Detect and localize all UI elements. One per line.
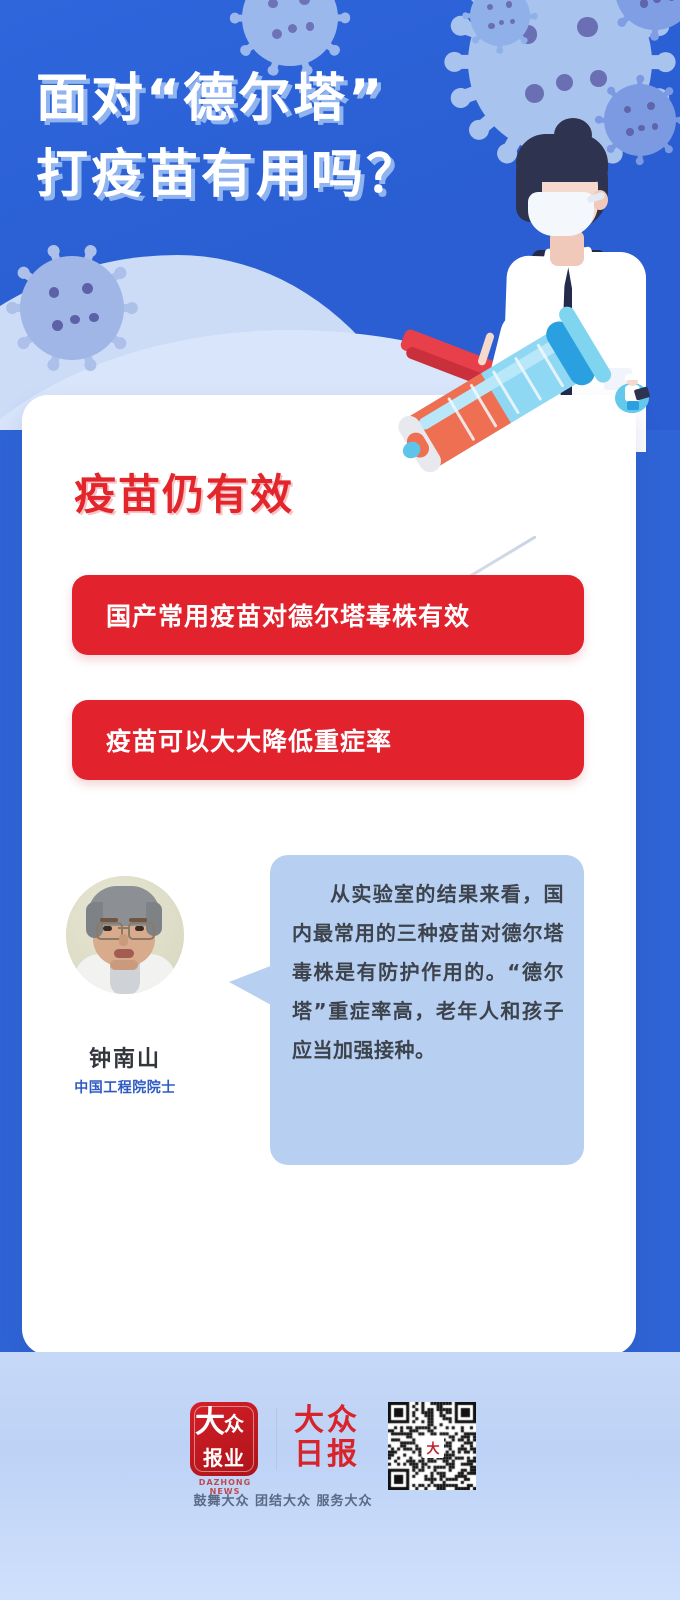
syringe-icon [377,383,647,583]
virus-dot [647,102,655,110]
mini-doctor-cap [625,374,640,380]
key-point-2: 疫苗可以大大降低重症率 [72,700,584,780]
poster: 面对“德尔塔” 打疫苗有用吗？ 疫苗仍有效 [0,0,680,1600]
avatar-glasses-bridge [118,927,129,929]
virus-dot [525,84,544,103]
virus-dot [288,24,297,33]
virus-particle-icon [470,0,530,46]
title-line-1: 面对“德尔塔” [36,66,421,132]
footer: 大 众 报业 DAZHONG NEWS 大众 日报 鼓舞大众 团结大众 服务大众… [0,1388,680,1518]
logo-divider [276,1408,277,1470]
speaker-role: 中国工程院院士 [51,1077,199,1097]
doctor-hair-bun [554,118,592,152]
logo-char-zhong: 众 [224,1408,256,1437]
virus-dot [49,287,59,297]
virus-dot [487,4,493,10]
qr-center-badge: 大 [422,1436,444,1458]
key-point-1: 国产常用疫苗对德尔塔毒株有效 [72,575,584,655]
logo-text-baoye: 报业 [194,1442,254,1471]
brand-name: 大众 日报 [294,1404,378,1472]
footer-tagline: 鼓舞大众 团结大众 服务大众 [178,1490,388,1509]
virus-dot [89,313,98,322]
virus-dot [640,0,648,8]
avatar-glasses-right [128,922,155,940]
mini-doctor-legs [627,401,639,410]
key-point-1-label: 国产常用疫苗对德尔塔毒株有效 [106,575,470,655]
avatar-eye-right [135,926,144,931]
virus-body [242,0,338,66]
virus-body [20,256,124,360]
virus-dot [52,320,63,331]
face-mask-icon [528,192,594,236]
virus-dot [577,17,597,37]
footer-logo-group: 大 众 报业 DAZHONG NEWS 大众 日报 鼓舞大众 团结大众 服务大众… [190,1398,490,1510]
speaker-avatar [66,876,184,994]
content-card: 疫苗仍有效 [22,395,636,1355]
virus-particle-icon [242,0,338,66]
quote-text: 从实验室的结果来看，国内最常用的三种疫苗对德尔塔毒株是有防护作用的。“德尔塔”重… [292,875,564,1070]
avatar-eye-left [103,926,112,931]
key-point-2-label: 疫苗可以大大降低重症率 [106,700,392,780]
virus-particle-icon [20,256,124,360]
avatar-nose [119,934,128,946]
virus-dot [488,23,494,29]
virus-particle-icon [615,0,680,30]
virus-dot [272,29,282,39]
quote-bubble-tail [229,965,273,1006]
speaker-name: 钟南山 [66,1041,184,1073]
avatar-chin [110,960,138,970]
virus-dot [506,1,513,8]
card-heading: 疫苗仍有效 [74,461,294,522]
quote-bubble: 从实验室的结果来看，国内最常用的三种疫苗对德尔塔毒株是有防护作用的。“德尔塔”重… [270,855,584,1165]
qr-code[interactable]: 大 [388,1402,476,1490]
virus-dot [70,315,80,325]
dazhong-logo-mark[interactable]: 大 众 报业 [190,1402,258,1476]
virus-dot [624,106,631,113]
avatar-mouth [114,949,134,958]
page-title: 面对“德尔塔” 打疫苗有用吗？ [36,66,421,208]
title-line-2: 打疫苗有用吗？ [36,142,421,208]
mini-doctor-icon [613,377,651,417]
